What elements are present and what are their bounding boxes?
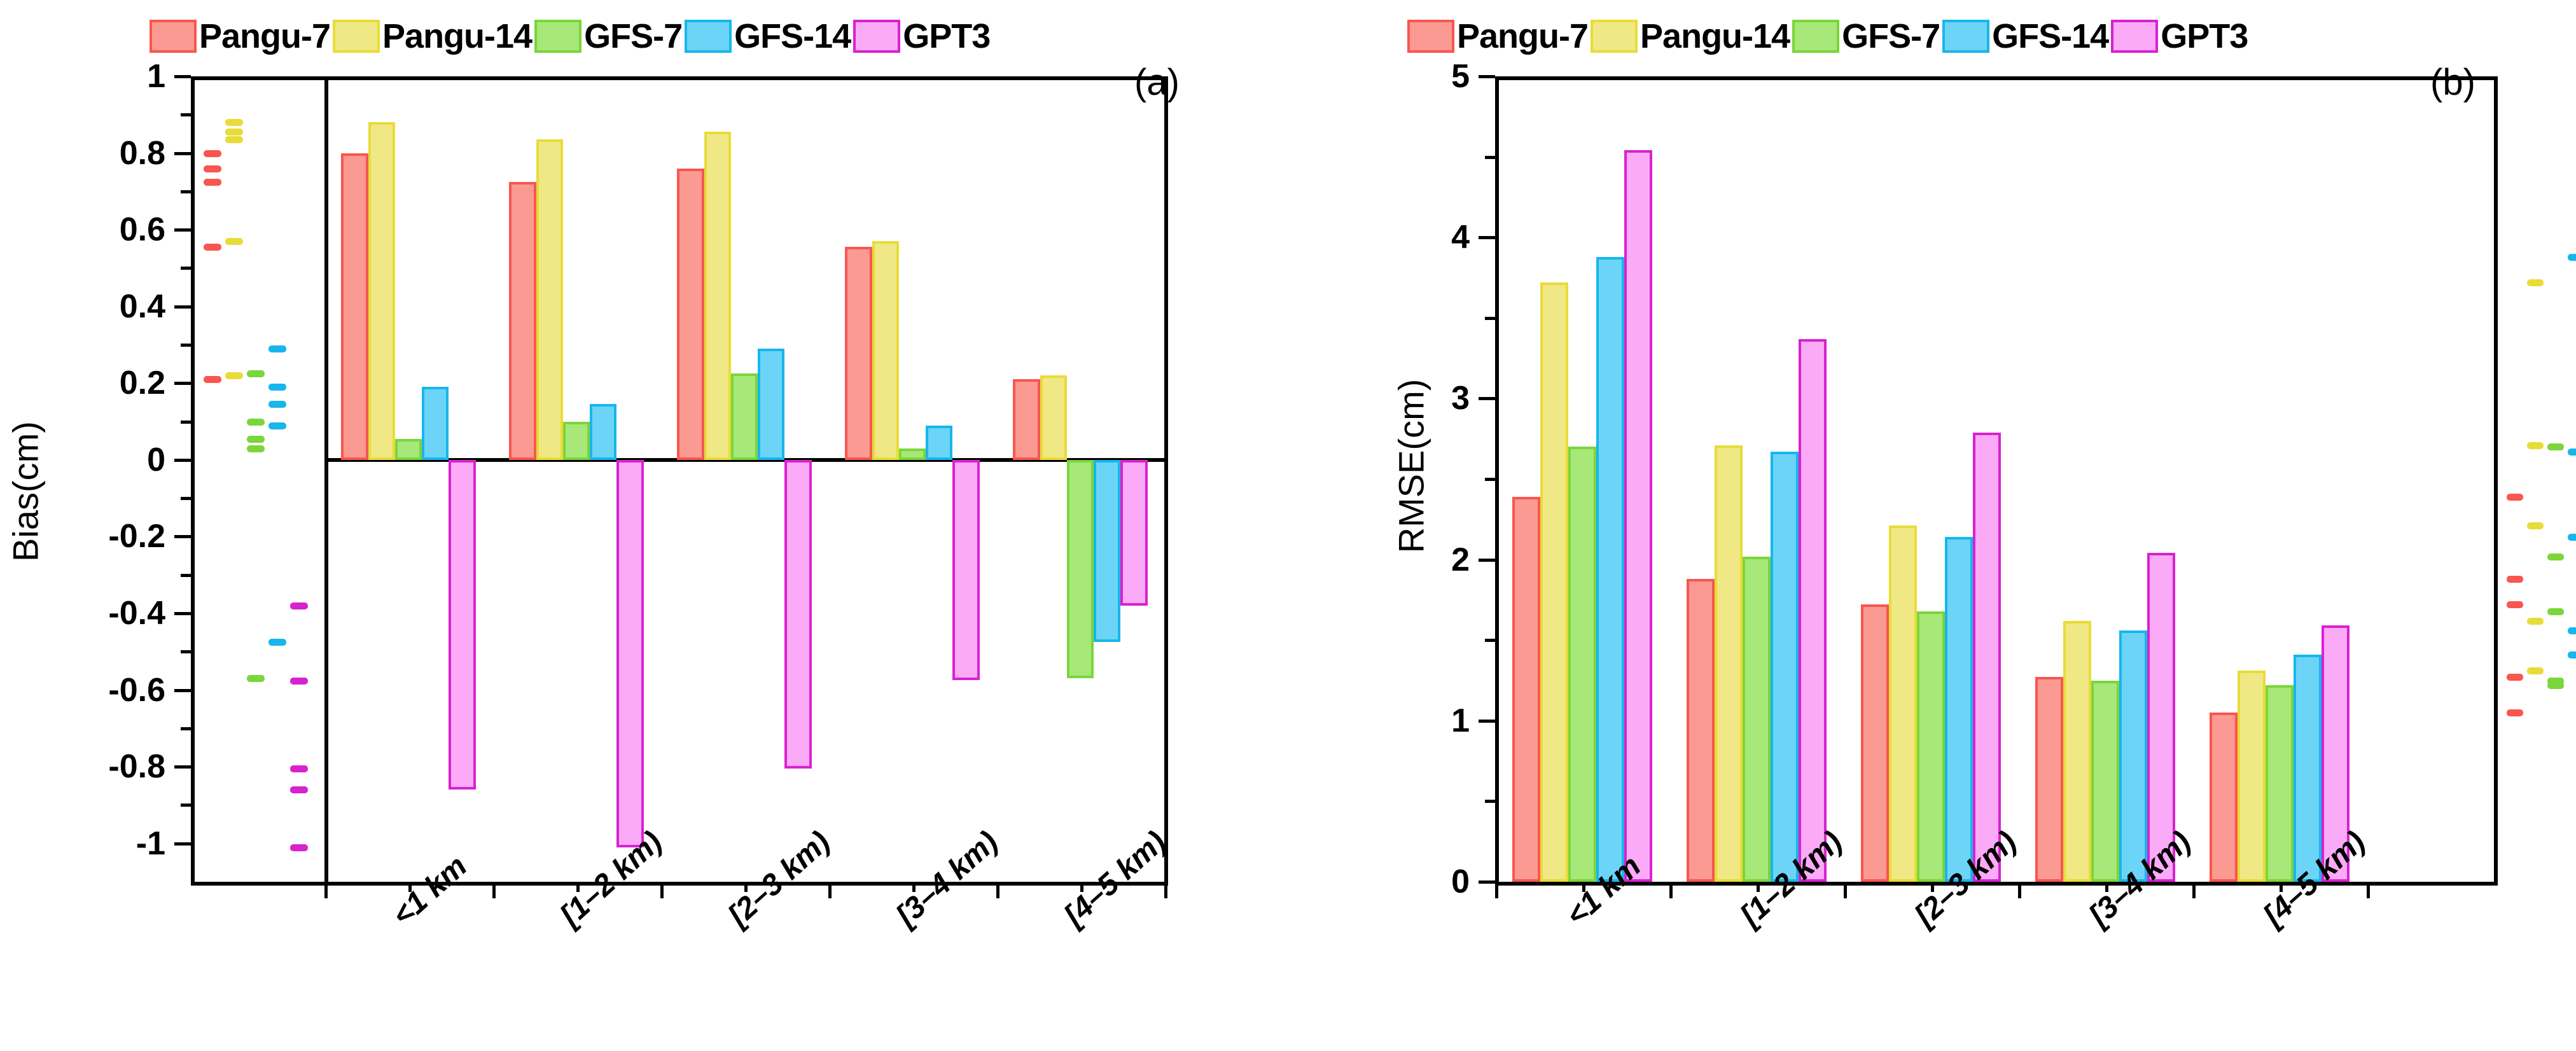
bar-pangu-14-0[interactable] — [368, 122, 395, 460]
marginal-tick-pangu-14 — [2527, 618, 2544, 625]
marginal-tick-gfs-7 — [2547, 682, 2564, 689]
bar-pangu-14-3[interactable] — [2063, 621, 2091, 882]
y-tick-minor — [1485, 478, 1495, 481]
y-tick-major — [174, 535, 191, 538]
y-tick-major — [174, 305, 191, 309]
bar-pangu-14-4[interactable] — [1040, 375, 1067, 460]
y-tick-major — [1479, 397, 1495, 400]
x-tick-minor — [744, 882, 748, 892]
bar-gfs-14-1[interactable] — [590, 404, 616, 459]
bar-pangu-14-3[interactable] — [872, 241, 899, 460]
marginal-tick-pangu-14 — [225, 238, 243, 245]
legend-label: Pangu-14 — [380, 17, 534, 56]
marginal-tick-pangu-14 — [2527, 667, 2544, 674]
legend-swatch-gpt3-icon — [853, 20, 900, 53]
y-tick-major — [174, 382, 191, 385]
bar-gfs-7-4[interactable] — [2266, 685, 2294, 882]
marginal-tick-gfs-14 — [2568, 534, 2576, 541]
legend-swatch-pangu-14-icon — [1591, 20, 1638, 53]
x-tick — [2018, 882, 2021, 898]
legend-item-gfs-7[interactable]: GFS-7 — [534, 17, 685, 56]
y-tick-major — [174, 765, 191, 769]
x-tick-minor — [408, 882, 412, 892]
bar-pangu-7-4[interactable] — [1013, 379, 1040, 460]
y-tick-major — [174, 612, 191, 615]
y-tick-label: 4 — [1317, 218, 1470, 256]
y-tick-minor — [1485, 156, 1495, 159]
y-tick-label: -0.8 — [13, 748, 165, 786]
y-tick-minor — [181, 113, 191, 116]
bar-gfs-14-3[interactable] — [2119, 630, 2147, 882]
figure-root: Pangu-7Pangu-14GFS-7GFS-14GPT3 10.80.60.… — [0, 0, 2576, 1051]
bar-pangu-14-1[interactable] — [1715, 445, 1743, 882]
marginal-tick-gpt3 — [290, 844, 308, 851]
bar-pangu-14-2[interactable] — [1889, 525, 1917, 882]
panel-b: Pangu-7Pangu-14GFS-7GFS-14GPT3 543210<1 … — [1272, 0, 2576, 1051]
x-tick-minor — [2280, 882, 2283, 892]
x-tick — [2192, 882, 2196, 898]
bar-gfs-7-4[interactable] — [1067, 460, 1094, 679]
marginal-tick-gfs-14 — [268, 639, 286, 646]
y-tick-minor — [181, 804, 191, 807]
bar-gpt3-2[interactable] — [784, 460, 811, 769]
x-tick — [492, 882, 496, 898]
axis-bottom-line — [1495, 882, 2498, 886]
bar-gfs-7-2[interactable] — [1917, 611, 1945, 882]
marginal-tick-pangu-14 — [225, 129, 243, 136]
legend-swatch-pangu-7-icon — [150, 20, 197, 53]
legend-label: GFS-14 — [732, 17, 853, 56]
x-tick-label: [3–4 km) — [889, 825, 1005, 933]
bar-gfs-7-3[interactable] — [2091, 681, 2119, 882]
legend-label: GPT3 — [2158, 17, 2250, 56]
marginal-tick-gfs-14 — [2568, 627, 2576, 634]
legend-label: GFS-7 — [1839, 17, 1942, 56]
y-tick-major — [1479, 236, 1495, 239]
y-tick-major — [174, 152, 191, 155]
bar-pangu-7-3[interactable] — [2035, 677, 2063, 882]
legend-item-gpt3[interactable]: GPT3 — [853, 17, 992, 56]
bar-pangu-7-1[interactable] — [1687, 579, 1715, 882]
x-tick — [996, 882, 999, 898]
bar-pangu-7-3[interactable] — [845, 247, 872, 460]
x-tick — [1669, 882, 1673, 898]
legend-item-pangu-7[interactable]: Pangu-7 — [1407, 17, 1591, 56]
x-tick — [828, 882, 832, 898]
y-tick-major — [174, 459, 191, 462]
bar-pangu-7-0[interactable] — [341, 153, 368, 460]
x-tick-label: <1 km — [386, 849, 474, 933]
y-tick-minor — [181, 650, 191, 653]
legend-label: Pangu-7 — [1454, 17, 1591, 56]
y-tick-minor — [181, 344, 191, 347]
bar-gfs-7-1[interactable] — [563, 422, 590, 460]
legend-swatch-gpt3-icon — [2111, 20, 2158, 53]
marginal-tick-gfs-14 — [2568, 449, 2576, 456]
legend-swatch-gfs-7-icon — [534, 20, 581, 53]
x-tick — [660, 882, 664, 898]
y-tick-minor — [1485, 639, 1495, 642]
marginal-tick-pangu-14 — [225, 372, 243, 379]
marginal-strip-divider — [324, 76, 328, 882]
legend-item-gpt3[interactable]: GPT3 — [2111, 17, 2250, 56]
bar-gpt3-0[interactable] — [449, 460, 475, 790]
bar-gpt3-2[interactable] — [1973, 433, 2001, 882]
marginal-tick-pangu-14 — [225, 136, 243, 143]
legend-label: Pangu-7 — [197, 17, 333, 56]
marginal-tick-gfs-7 — [247, 675, 265, 682]
marginal-tick-pangu-7 — [204, 244, 221, 251]
axis-bottom-line — [191, 882, 1168, 886]
bar-gfs-14-0[interactable] — [422, 387, 449, 460]
y-tick-label: 5 — [1317, 57, 1470, 95]
x-tick-minor — [1757, 882, 1760, 892]
marginal-tick-pangu-7 — [204, 179, 221, 186]
y-tick-label: -0.4 — [13, 594, 165, 632]
bar-gpt3-1[interactable] — [1799, 339, 1827, 882]
panel-a-ylabel: Bias(cm) — [5, 396, 46, 587]
bar-gfs-14-0[interactable] — [1596, 257, 1624, 882]
bar-gfs-7-0[interactable] — [1568, 447, 1596, 882]
marginal-tick-gpt3 — [290, 602, 308, 609]
legend-item-pangu-14[interactable]: Pangu-14 — [333, 17, 534, 56]
y-tick-label: 1 — [13, 57, 165, 95]
marginal-tick-gfs-7 — [247, 419, 265, 426]
legend-swatch-gfs-14-icon — [685, 20, 732, 53]
bar-gfs-7-0[interactable] — [395, 439, 422, 460]
marginal-tick-gfs-14 — [268, 401, 286, 408]
marginal-tick-pangu-7 — [204, 150, 221, 157]
y-tick-label: -1 — [13, 825, 165, 863]
bar-pangu-14-2[interactable] — [704, 132, 731, 459]
bar-gfs-14-2[interactable] — [758, 349, 784, 460]
x-tick-label: [2–3 km) — [721, 825, 837, 933]
y-tick-label: 0 — [1317, 863, 1470, 901]
marginal-tick-gfs-14 — [2568, 651, 2576, 658]
legend-item-gfs-7[interactable]: GFS-7 — [1792, 17, 1942, 56]
marginal-strip-divider — [1495, 76, 1499, 882]
x-tick-minor — [2105, 882, 2108, 892]
legend-label: GFS-7 — [581, 17, 685, 56]
marginal-tick-pangu-14 — [2527, 442, 2544, 449]
legend-label: GPT3 — [900, 17, 992, 56]
y-tick-major — [174, 689, 191, 692]
axis-left-spine — [191, 76, 195, 882]
marginal-tick-gpt3 — [290, 678, 308, 685]
x-tick — [1844, 882, 1847, 898]
marginal-tick-pangu-14 — [2527, 522, 2544, 529]
marginal-tick-gfs-7 — [2547, 553, 2564, 560]
bar-pangu-14-1[interactable] — [536, 139, 563, 459]
bar-gfs-14-2[interactable] — [1945, 537, 1973, 882]
marginal-tick-gfs-7 — [247, 445, 265, 452]
axis-right-spine — [2494, 76, 2498, 882]
y-tick-label: 1 — [1317, 702, 1470, 740]
marginal-tick-gpt3 — [290, 786, 308, 793]
legend-label: GFS-14 — [1989, 17, 2111, 56]
y-tick-label: 0.8 — [13, 134, 165, 172]
bar-gfs-14-1[interactable] — [1771, 452, 1799, 882]
bar-pangu-7-2[interactable] — [1861, 604, 1889, 882]
y-tick-major — [1479, 880, 1495, 884]
bar-gpt3-1[interactable] — [616, 460, 643, 847]
panel-b-ylabel: RMSE(cm) — [1391, 358, 1432, 574]
marginal-tick-pangu-7 — [2507, 601, 2523, 608]
x-tick — [324, 882, 328, 898]
y-tick-minor — [181, 497, 191, 500]
bar-gpt3-3[interactable] — [952, 460, 979, 681]
y-tick-label: -0.6 — [13, 671, 165, 709]
legend-swatch-pangu-7-icon — [1407, 20, 1454, 53]
y-tick-major — [1479, 75, 1495, 78]
marginal-tick-gfs-7 — [247, 436, 265, 443]
y-tick-label: 0.6 — [13, 211, 165, 249]
y-tick-minor — [1485, 800, 1495, 803]
x-tick — [1164, 882, 1167, 898]
bar-gpt3-0[interactable] — [1624, 150, 1652, 882]
x-tick-minor — [1080, 882, 1083, 892]
y-tick-major — [174, 842, 191, 846]
legend-swatch-gfs-14-icon — [1942, 20, 1989, 53]
bar-gfs-14-4[interactable] — [2294, 655, 2322, 882]
panel-b-tag: (b) — [2430, 61, 2475, 104]
axis-top-line — [1495, 76, 2498, 80]
bar-pangu-7-2[interactable] — [677, 169, 704, 460]
legend-item-pangu-7[interactable]: Pangu-7 — [150, 17, 333, 56]
y-tick-major — [174, 228, 191, 232]
y-tick-minor — [181, 574, 191, 577]
bar-pangu-14-4[interactable] — [2238, 671, 2266, 882]
y-tick-major — [174, 75, 191, 78]
bar-gfs-7-1[interactable] — [1743, 557, 1771, 882]
x-tick-minor — [576, 882, 580, 892]
marginal-tick-gfs-14 — [2568, 254, 2576, 261]
bar-gpt3-4[interactable] — [1120, 460, 1147, 606]
panel-a: Pangu-7Pangu-14GFS-7GFS-14GPT3 10.80.60.… — [0, 0, 1272, 1051]
legend-item-gfs-14[interactable]: GFS-14 — [1942, 17, 2111, 56]
y-tick-minor — [1485, 317, 1495, 320]
bar-pangu-14-0[interactable] — [1540, 282, 1568, 882]
x-tick — [2367, 882, 2370, 898]
legend-panel-a: Pangu-7Pangu-14GFS-7GFS-14GPT3 — [150, 17, 992, 56]
marginal-tick-pangu-7 — [2507, 576, 2523, 583]
x-tick-minor — [1582, 882, 1585, 892]
marginal-tick-gfs-14 — [268, 384, 286, 391]
y-tick-minor — [181, 190, 191, 193]
legend-item-pangu-14[interactable]: Pangu-14 — [1591, 17, 1792, 56]
marginal-tick-gfs-7 — [2547, 608, 2564, 615]
y-tick-label: 0.4 — [13, 288, 165, 326]
marginal-tick-gfs-14 — [268, 422, 286, 429]
legend-item-gfs-14[interactable]: GFS-14 — [685, 17, 853, 56]
marginal-tick-gfs-7 — [247, 370, 265, 377]
marginal-tick-pangu-14 — [225, 119, 243, 126]
y-tick-major — [1479, 720, 1495, 723]
marginal-tick-gfs-14 — [268, 345, 286, 352]
bar-gfs-14-3[interactable] — [926, 426, 952, 460]
marginal-tick-gpt3 — [290, 765, 308, 772]
marginal-tick-pangu-7 — [204, 165, 221, 172]
legend-swatch-pangu-14-icon — [333, 20, 380, 53]
x-tick — [1495, 882, 1498, 898]
y-tick-major — [1479, 559, 1495, 562]
x-tick-minor — [912, 882, 916, 892]
bar-pangu-7-0[interactable] — [1512, 497, 1540, 882]
bar-gfs-7-3[interactable] — [899, 449, 926, 460]
marginal-tick-gfs-7 — [2547, 443, 2564, 450]
y-tick-minor — [181, 421, 191, 424]
legend-panel-b: Pangu-7Pangu-14GFS-7GFS-14GPT3 — [1407, 17, 2250, 56]
bar-gfs-14-4[interactable] — [1094, 460, 1120, 642]
axis-top-line — [191, 76, 1168, 80]
bar-gfs-7-2[interactable] — [731, 373, 758, 460]
panel-a-tag: (a) — [1134, 61, 1180, 104]
bar-pangu-7-1[interactable] — [509, 182, 536, 460]
marginal-tick-pangu-7 — [2507, 709, 2523, 716]
legend-swatch-gfs-7-icon — [1792, 20, 1839, 53]
marginal-tick-pangu-14 — [2527, 279, 2544, 286]
x-tick-minor — [1931, 882, 1934, 892]
y-tick-minor — [181, 727, 191, 730]
marginal-tick-pangu-7 — [204, 376, 221, 383]
x-tick-label: [1–2 km) — [553, 825, 669, 933]
axis-right-spine — [1164, 76, 1168, 882]
bar-pangu-7-4[interactable] — [2210, 713, 2238, 882]
marginal-tick-pangu-7 — [2507, 674, 2523, 681]
x-tick-label: [4–5 km) — [1057, 825, 1173, 933]
marginal-tick-pangu-7 — [2507, 494, 2523, 501]
legend-label: Pangu-14 — [1638, 17, 1792, 56]
y-tick-minor — [181, 267, 191, 270]
